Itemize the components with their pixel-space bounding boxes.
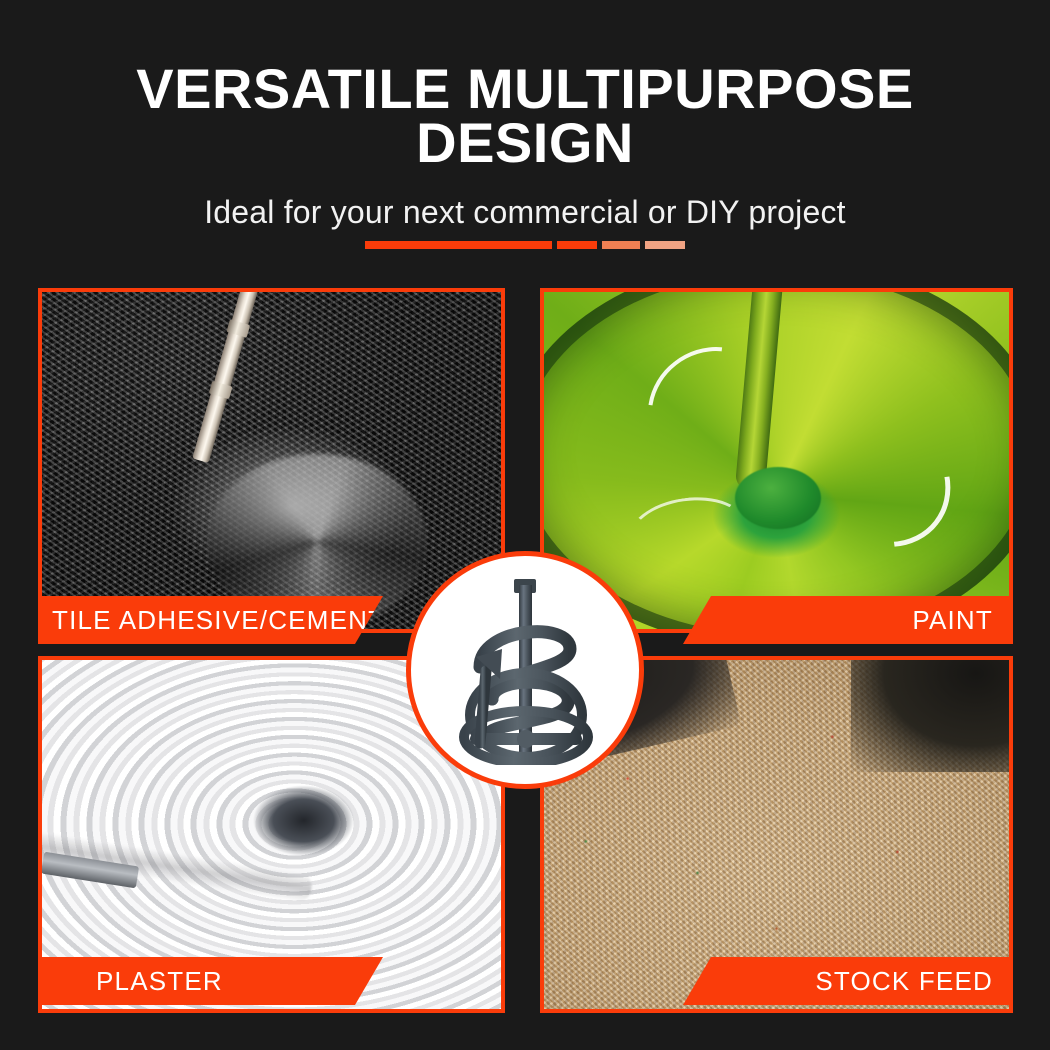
tile-label-plaster: PLASTER: [38, 966, 223, 997]
mixer-paddle-icon: [440, 575, 610, 765]
tile-paint: [540, 288, 1013, 633]
tile-label-stock-feed: STOCK FEED: [815, 966, 1013, 997]
divider-segment-4: [645, 241, 685, 249]
poster-canvas: VERSATILE MULTIPURPOSE DESIGN Ideal for …: [0, 0, 1050, 1050]
label-banner-cement: TILE ADHESIVE/CEMENT: [38, 596, 383, 644]
cement-photo: [42, 292, 501, 629]
tile-label-paint: PAINT: [912, 605, 1013, 636]
decorative-divider: [0, 241, 1050, 249]
page-title: VERSATILE MULTIPURPOSE DESIGN: [0, 62, 1050, 170]
label-banner-paint: PAINT: [683, 596, 1013, 644]
divider-segment-3: [602, 241, 640, 249]
product-badge: [406, 551, 644, 789]
tile-label-cement: TILE ADHESIVE/CEMENT: [38, 605, 385, 636]
cement-shaft-collar: [209, 381, 233, 399]
cement-mixer-shaft: [192, 292, 260, 462]
label-banner-stock-feed: STOCK FEED: [683, 957, 1013, 1005]
label-banner-plaster: PLASTER: [38, 957, 383, 1005]
divider-segment-2: [557, 241, 597, 249]
tile-adhesive-cement: [38, 288, 505, 633]
page-subtitle: Ideal for your next commercial or DIY pr…: [0, 194, 1050, 231]
paint-photo: [544, 292, 1009, 629]
cement-shaft-collar: [226, 319, 250, 337]
header: VERSATILE MULTIPURPOSE DESIGN Ideal for …: [0, 0, 1050, 231]
divider-segment-1: [365, 241, 552, 249]
